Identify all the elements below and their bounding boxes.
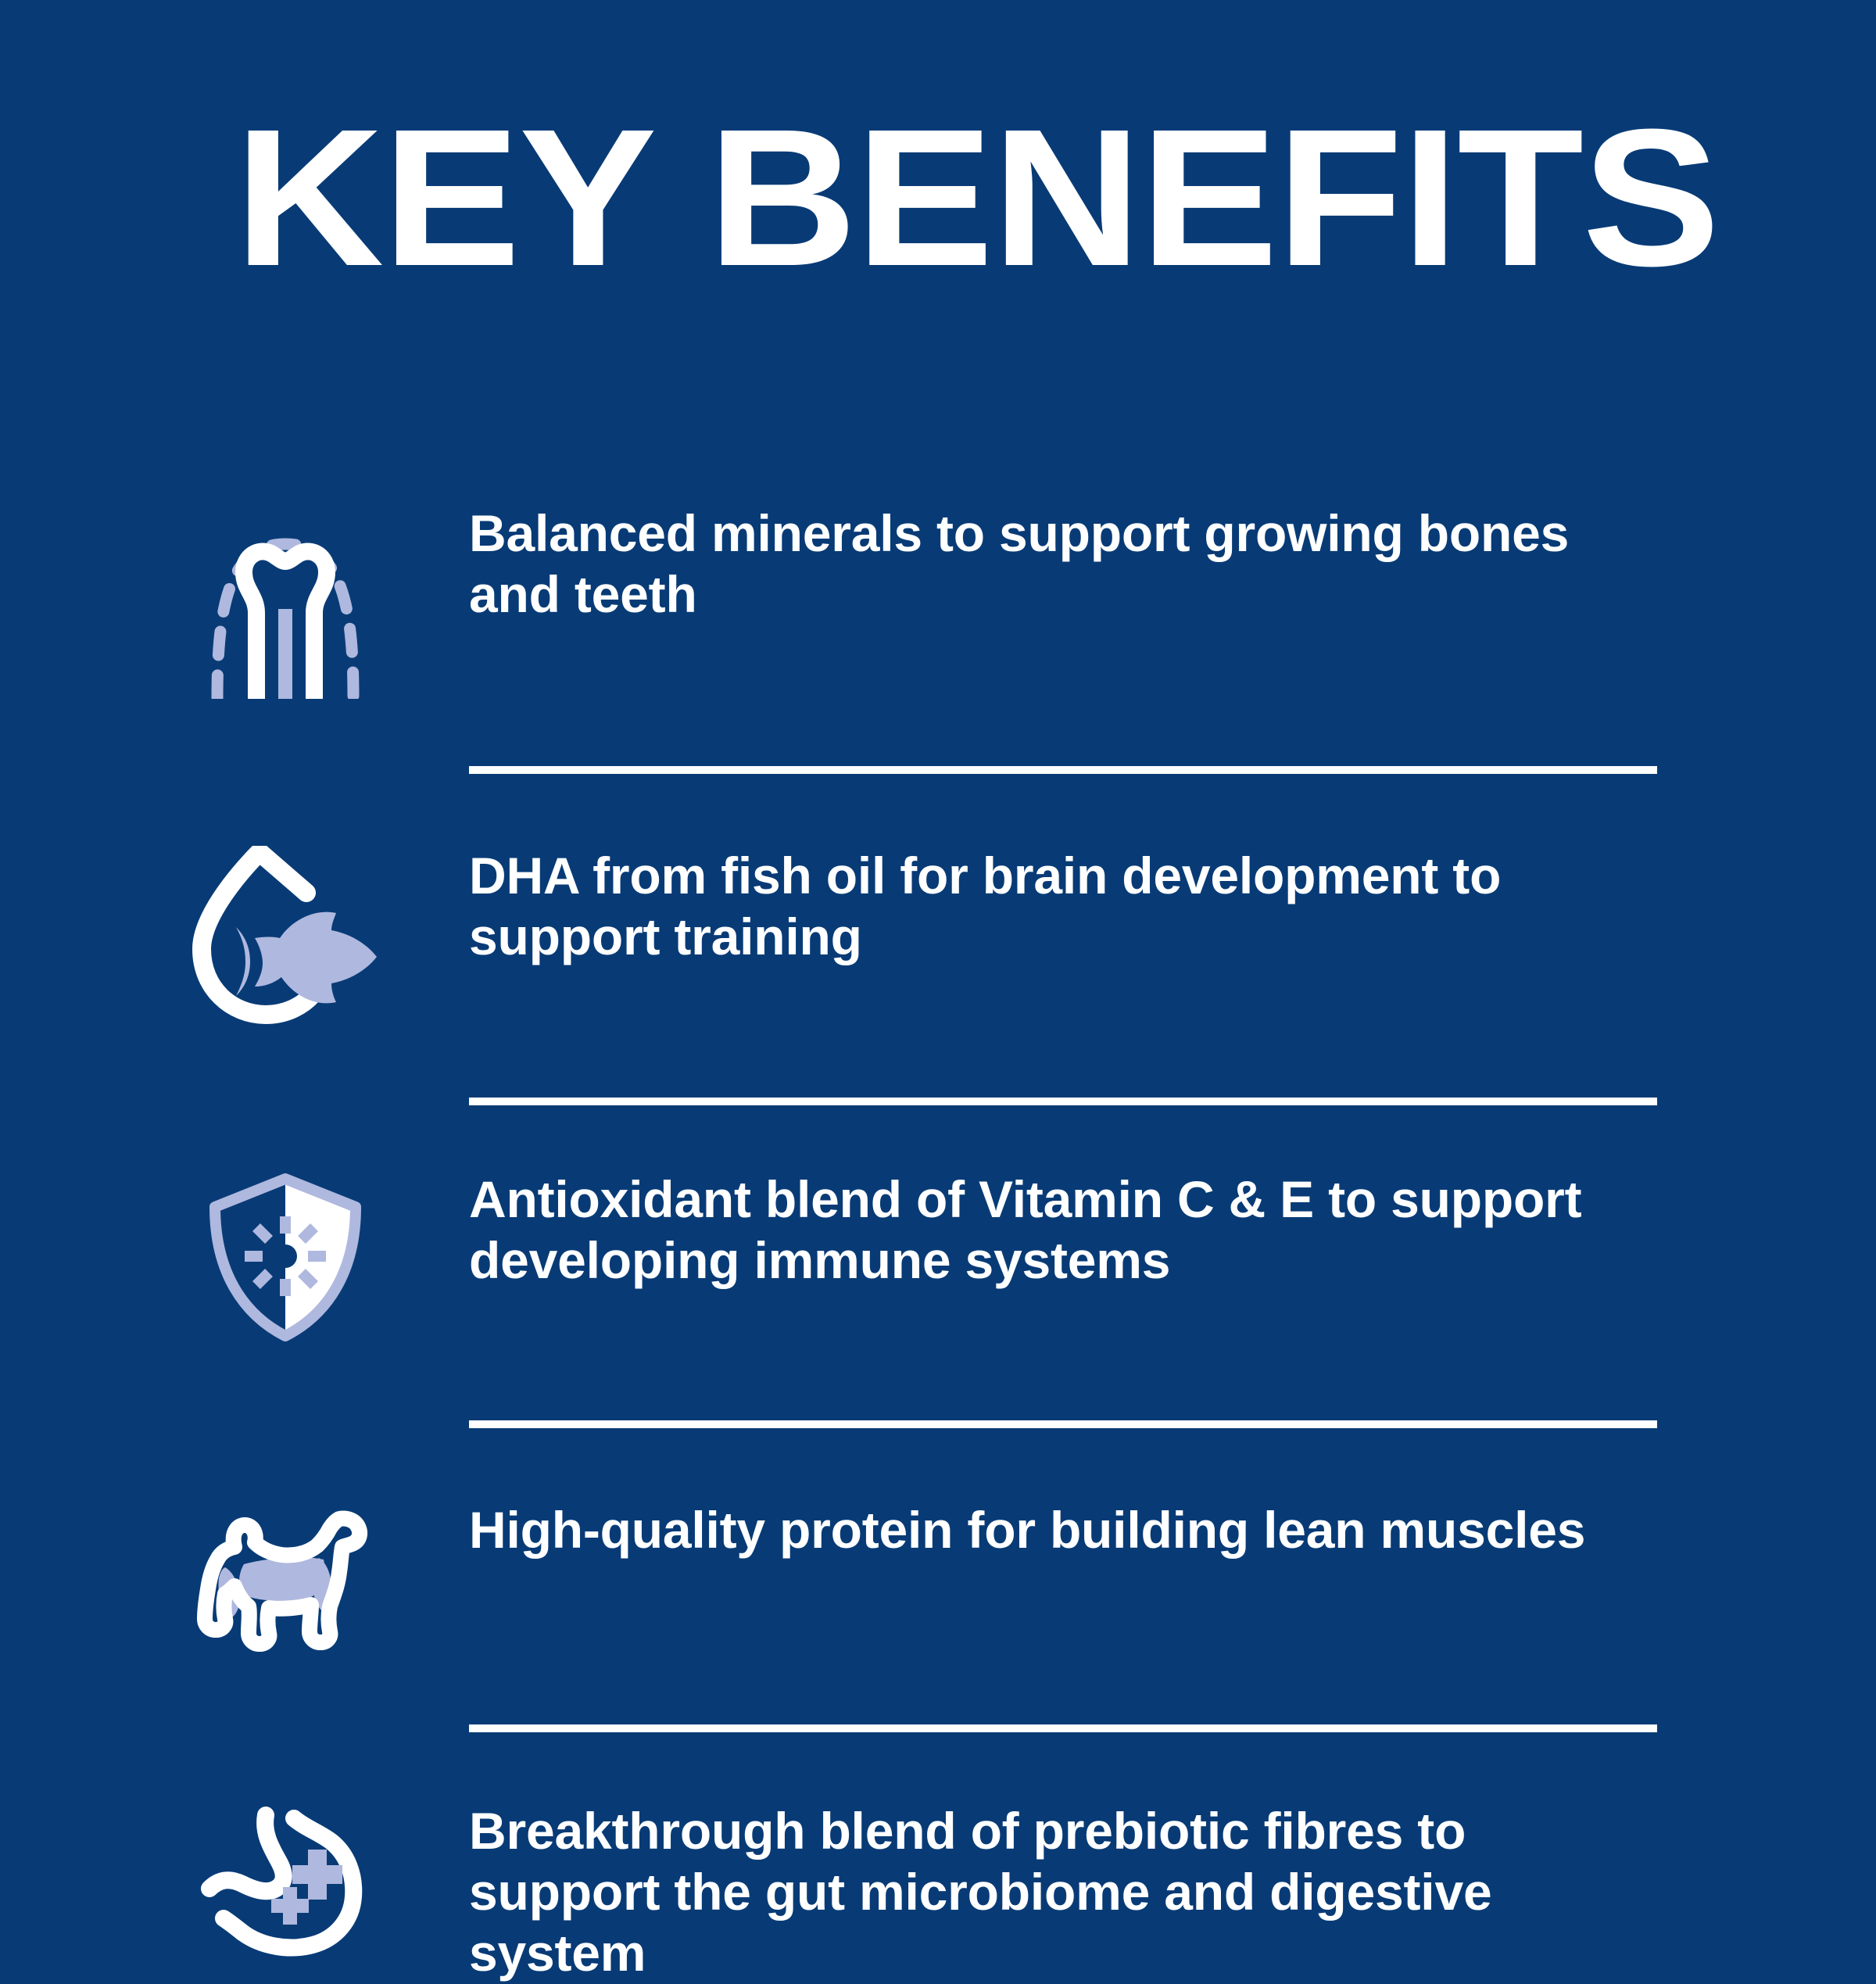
benefit-label: DHA from fish oil for brain development …: [469, 846, 1657, 968]
bone-icon: [195, 503, 375, 699]
dog-icon-cell: [180, 1500, 391, 1653]
divider-wrap-2: [0, 1098, 1876, 1105]
benefit-text-cell-prebiotic: Breakthrough blend of prebiotic fibres t…: [391, 1801, 1876, 1984]
divider-wrap-4: [0, 1724, 1876, 1732]
benefit-row-dha: DHA from fish oil for brain development …: [0, 829, 1876, 1026]
divider: [469, 1724, 1657, 1732]
stomach-icon: [194, 1801, 378, 1973]
shield-burst-icon: [202, 1169, 370, 1345]
divider: [469, 1098, 1657, 1105]
benefit-label: High-quality protein for building lean m…: [469, 1500, 1657, 1561]
benefit-row-protein: High-quality protein for building lean m…: [0, 1480, 1876, 1653]
divider-wrap-3: [0, 1420, 1876, 1428]
divider-wrap-1: [0, 766, 1876, 774]
benefits-list: Balanced minerals to support growing bon…: [0, 438, 1876, 1984]
divider: [469, 766, 1657, 774]
stomach-icon-cell: [180, 1801, 391, 1973]
benefit-text-cell-antioxidant: Antioxidant blend of Vitamin C & E to su…: [391, 1169, 1876, 1291]
fish-droplet-icon: [188, 846, 383, 1026]
page-title: KEY BENEFITS: [234, 100, 1719, 295]
benefit-text-cell-dha: DHA from fish oil for brain development …: [391, 846, 1876, 968]
benefit-text-cell-protein: High-quality protein for building lean m…: [391, 1500, 1876, 1561]
benefit-label: Breakthrough blend of prebiotic fibres t…: [469, 1801, 1657, 1984]
bone-icon-cell: [180, 503, 391, 699]
benefit-label: Antioxidant blend of Vitamin C & E to su…: [469, 1169, 1657, 1291]
benefit-row-antioxidant: Antioxidant blend of Vitamin C & E to su…: [0, 1154, 1876, 1345]
dog-icon: [194, 1500, 378, 1653]
benefit-row-prebiotic: Breakthrough blend of prebiotic fibres t…: [0, 1784, 1876, 1984]
shield-burst-icon-cell: [180, 1169, 391, 1345]
key-benefits-poster: KEY BENEFITS Balanc: [0, 0, 1876, 1876]
benefit-text-cell-bone: Balanced minerals to support growing bon…: [391, 503, 1876, 625]
benefit-row-bone: Balanced minerals to support growing bon…: [0, 489, 1876, 699]
fish-droplet-icon-cell: [180, 846, 391, 1026]
benefit-label: Balanced minerals to support growing bon…: [469, 503, 1657, 625]
divider: [469, 1420, 1657, 1428]
